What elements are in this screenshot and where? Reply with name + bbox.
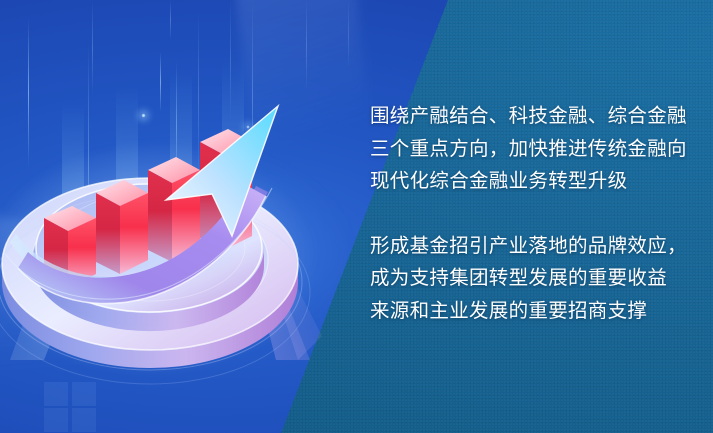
paragraph-2-line-1: 形成基金招引产业落地的品牌效应， (370, 230, 680, 263)
paragraph-2-line-3: 来源和主业发展的重要招商支撑 (370, 295, 680, 328)
decor-square (72, 382, 96, 406)
paragraph-1-line-3: 现代化综合金融业务转型升级 (370, 165, 680, 198)
slide-canvas: 围绕产融结合、科技金融、综合金融 三个重点方向，加快推进传统金融向 现代化综合金… (0, 0, 713, 433)
light-streak (170, 0, 171, 40)
paragraph-1-line-1: 围绕产融结合、科技金融、综合金融 (370, 100, 680, 133)
paragraph-1: 围绕产融结合、科技金融、综合金融 三个重点方向，加快推进传统金融向 现代化综合金… (370, 100, 680, 198)
illustration-growth-chart (0, 60, 330, 380)
paragraph-2-line-2: 成为支持集团转型发展的重要收益 (370, 262, 680, 295)
paragraph-1-line-2: 三个重点方向，加快推进传统金融向 (370, 133, 680, 166)
decor-square (44, 408, 68, 432)
decor-square (72, 408, 96, 432)
text-content: 围绕产融结合、科技金融、综合金融 三个重点方向，加快推进传统金融向 现代化综合金… (370, 100, 680, 327)
light-streak (348, 0, 349, 70)
paragraph-2: 形成基金招引产业落地的品牌效应， 成为支持集团转型发展的重要收益 来源和主业发展… (370, 230, 680, 328)
bar-2 (96, 180, 148, 274)
decor-square (44, 382, 68, 406)
